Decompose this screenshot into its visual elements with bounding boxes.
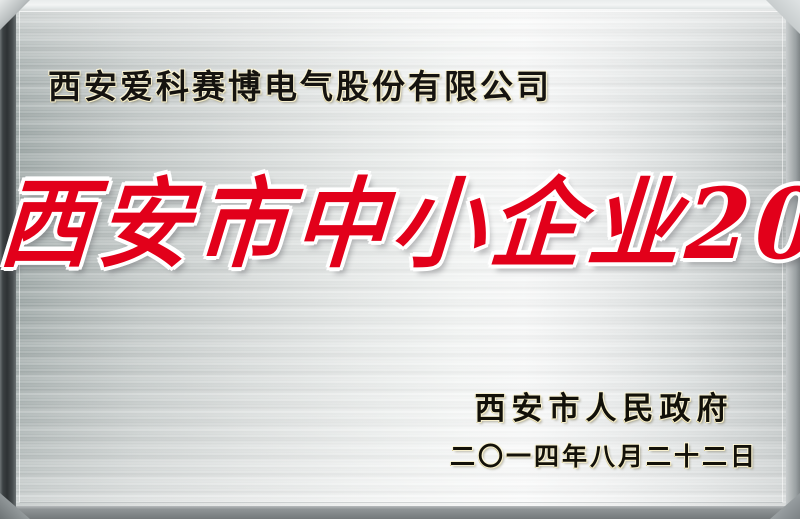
issuing-authority: 西安市人民政府 xyxy=(450,383,758,428)
award-title: 西安市中小企业20强 xyxy=(0,173,800,275)
plaque-content: 西安爱科赛博电气股份有限公司 西安市中小企业20强 西安市人民政府 二〇一四年八… xyxy=(0,0,800,519)
award-title-row: 西安市中小企业20强 xyxy=(0,176,800,273)
issue-date: 二〇一四年八月二十二日 xyxy=(450,437,758,473)
company-name: 西安爱科赛博电气股份有限公司 xyxy=(48,60,552,108)
issuer-block: 西安市人民政府 二〇一四年八月二十二日 xyxy=(450,383,758,473)
award-plaque: 西安爱科赛博电气股份有限公司 西安市中小企业20强 西安市人民政府 二〇一四年八… xyxy=(0,0,800,519)
